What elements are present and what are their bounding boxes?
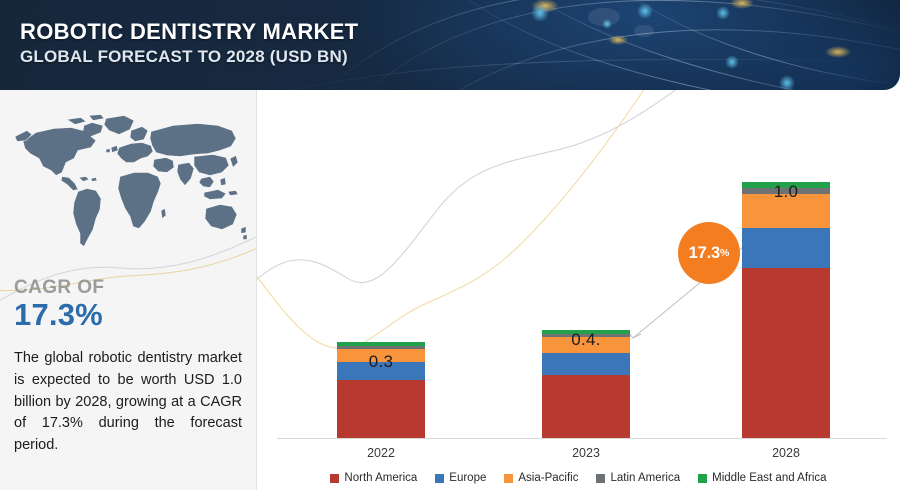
legend-label: Middle East and Africa <box>712 472 826 484</box>
left-info-panel: CAGR OF 17.3% The global robotic dentist… <box>0 90 257 490</box>
bar-total-label-2028: 1.0 <box>726 182 846 202</box>
x-axis-label-2023: 2023 <box>526 446 646 460</box>
segment-north-america <box>337 380 425 438</box>
segment-north-america <box>742 268 830 438</box>
chart-legend: North America Europe Asia-Pacific Latin … <box>257 472 900 484</box>
legend-item-middle-east-and-africa[interactable]: Middle East and Africa <box>698 472 826 484</box>
cagr-block: CAGR OF 17.3% <box>14 278 104 332</box>
page-title: ROBOTIC DENTISTRY MARKET <box>20 20 358 43</box>
x-axis-label-2028: 2028 <box>726 446 846 460</box>
legend-item-latin-america[interactable]: Latin America <box>596 472 680 484</box>
segment-europe <box>542 353 630 375</box>
header-text-group: ROBOTIC DENTISTRY MARKET GLOBAL FORECAST… <box>20 20 358 66</box>
bar-total-label-2023: 0.4. <box>526 330 646 350</box>
chart-area: 0.3 2022 0.4. 2023 1.0 2028 <box>257 90 900 490</box>
bar-total-label-2022: 0.3 <box>321 352 441 372</box>
legend-swatch-icon <box>435 474 444 483</box>
page-subtitle: GLOBAL FORECAST TO 2028 (USD BN) <box>20 48 358 66</box>
segment-europe <box>742 228 830 268</box>
legend-item-europe[interactable]: Europe <box>435 472 486 484</box>
legend-label: Latin America <box>610 472 680 484</box>
panel-description: The global robotic dentistry market is e… <box>14 348 242 457</box>
cagr-value: 17.3% <box>14 299 104 332</box>
legend-item-north-america[interactable]: North America <box>330 472 417 484</box>
legend-swatch-icon <box>596 474 605 483</box>
legend-label: Europe <box>449 472 486 484</box>
cagr-label: CAGR OF <box>14 278 104 297</box>
bar-2028[interactable] <box>742 182 830 438</box>
legend-swatch-icon <box>504 474 513 483</box>
legend-swatch-icon <box>698 474 707 483</box>
segment-north-america <box>542 375 630 438</box>
legend-label: Asia-Pacific <box>518 472 578 484</box>
cagr-callout-unit: % <box>720 247 729 259</box>
infographic-root: ROBOTIC DENTISTRY MARKET GLOBAL FORECAST… <box>0 0 900 490</box>
legend-label: North America <box>344 472 417 484</box>
header-banner: ROBOTIC DENTISTRY MARKET GLOBAL FORECAST… <box>0 0 900 90</box>
legend-swatch-icon <box>330 474 339 483</box>
cagr-callout-bubble: 17.3% <box>678 222 740 284</box>
legend-item-asia-pacific[interactable]: Asia-Pacific <box>504 472 578 484</box>
stacked-bars-plot: 0.3 2022 0.4. 2023 1.0 2028 <box>257 90 900 490</box>
cagr-callout-value: 17.3 <box>689 244 720 263</box>
x-axis-label-2022: 2022 <box>321 446 441 460</box>
